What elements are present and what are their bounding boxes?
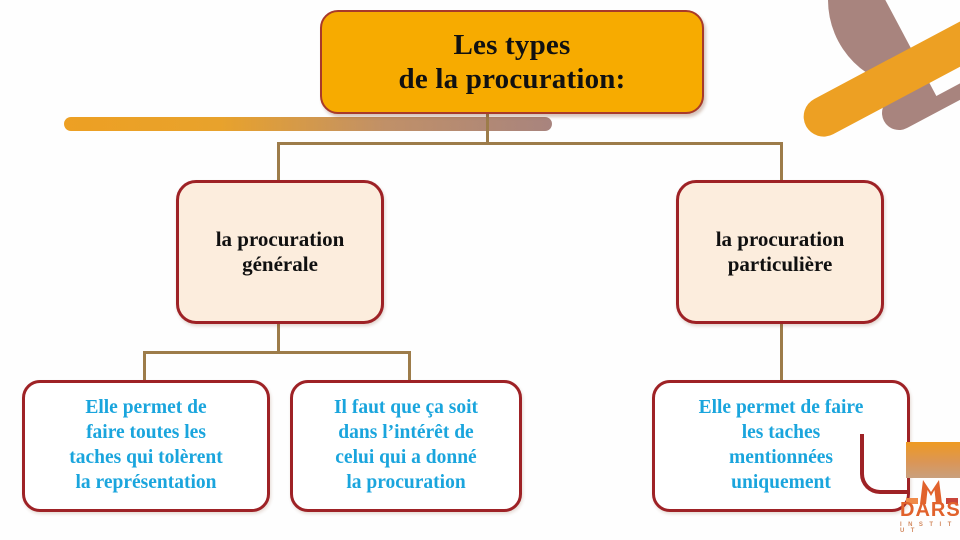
connector-to-leaf-2 bbox=[408, 351, 411, 382]
connector-to-leaf-1 bbox=[143, 351, 146, 382]
logo-subtitle: I N S T I T U T bbox=[900, 522, 960, 534]
brand-logo[interactable]: DARS I N S T I T U T bbox=[858, 434, 960, 540]
node-title-text: Les types de la procuration: bbox=[398, 28, 625, 96]
logo-gradient-bar-icon bbox=[906, 442, 960, 478]
node-procuration-generale-text: la procuration générale bbox=[216, 227, 345, 277]
node-title[interactable]: Les types de la procuration: bbox=[320, 10, 704, 114]
node-procuration-particuliere-text: la procuration particulière bbox=[716, 227, 845, 277]
node-procuration-generale[interactable]: la procuration générale bbox=[176, 180, 384, 324]
connector-to-leaf-3 bbox=[780, 324, 783, 382]
logo-hook-icon bbox=[860, 434, 910, 494]
connector-title-stem bbox=[486, 114, 489, 144]
node-leaf-taches-mentionnees-text: Elle permet de faire les taches mentionn… bbox=[699, 396, 864, 496]
logo-wordmark: DARS bbox=[900, 500, 960, 520]
connector-generale-stem bbox=[277, 324, 280, 354]
connector-to-generale bbox=[277, 142, 280, 182]
node-leaf-representation[interactable]: Elle permet de faire toutes les taches q… bbox=[22, 380, 270, 512]
node-leaf-interet[interactable]: Il faut que ça soit dans l’intérêt de ce… bbox=[290, 380, 522, 512]
connector-to-particuliere bbox=[780, 142, 783, 182]
slide-canvas: Les types de la procuration: la procurat… bbox=[0, 0, 960, 540]
node-procuration-particuliere[interactable]: la procuration particulière bbox=[676, 180, 884, 324]
decor-title-underbar bbox=[64, 117, 552, 131]
node-leaf-representation-text: Elle permet de faire toutes les taches q… bbox=[69, 396, 222, 496]
connector-leaf-rail bbox=[143, 351, 411, 354]
node-leaf-interet-text: Il faut que ça soit dans l’intérêt de ce… bbox=[334, 396, 478, 496]
connector-branch-rail bbox=[277, 142, 783, 145]
